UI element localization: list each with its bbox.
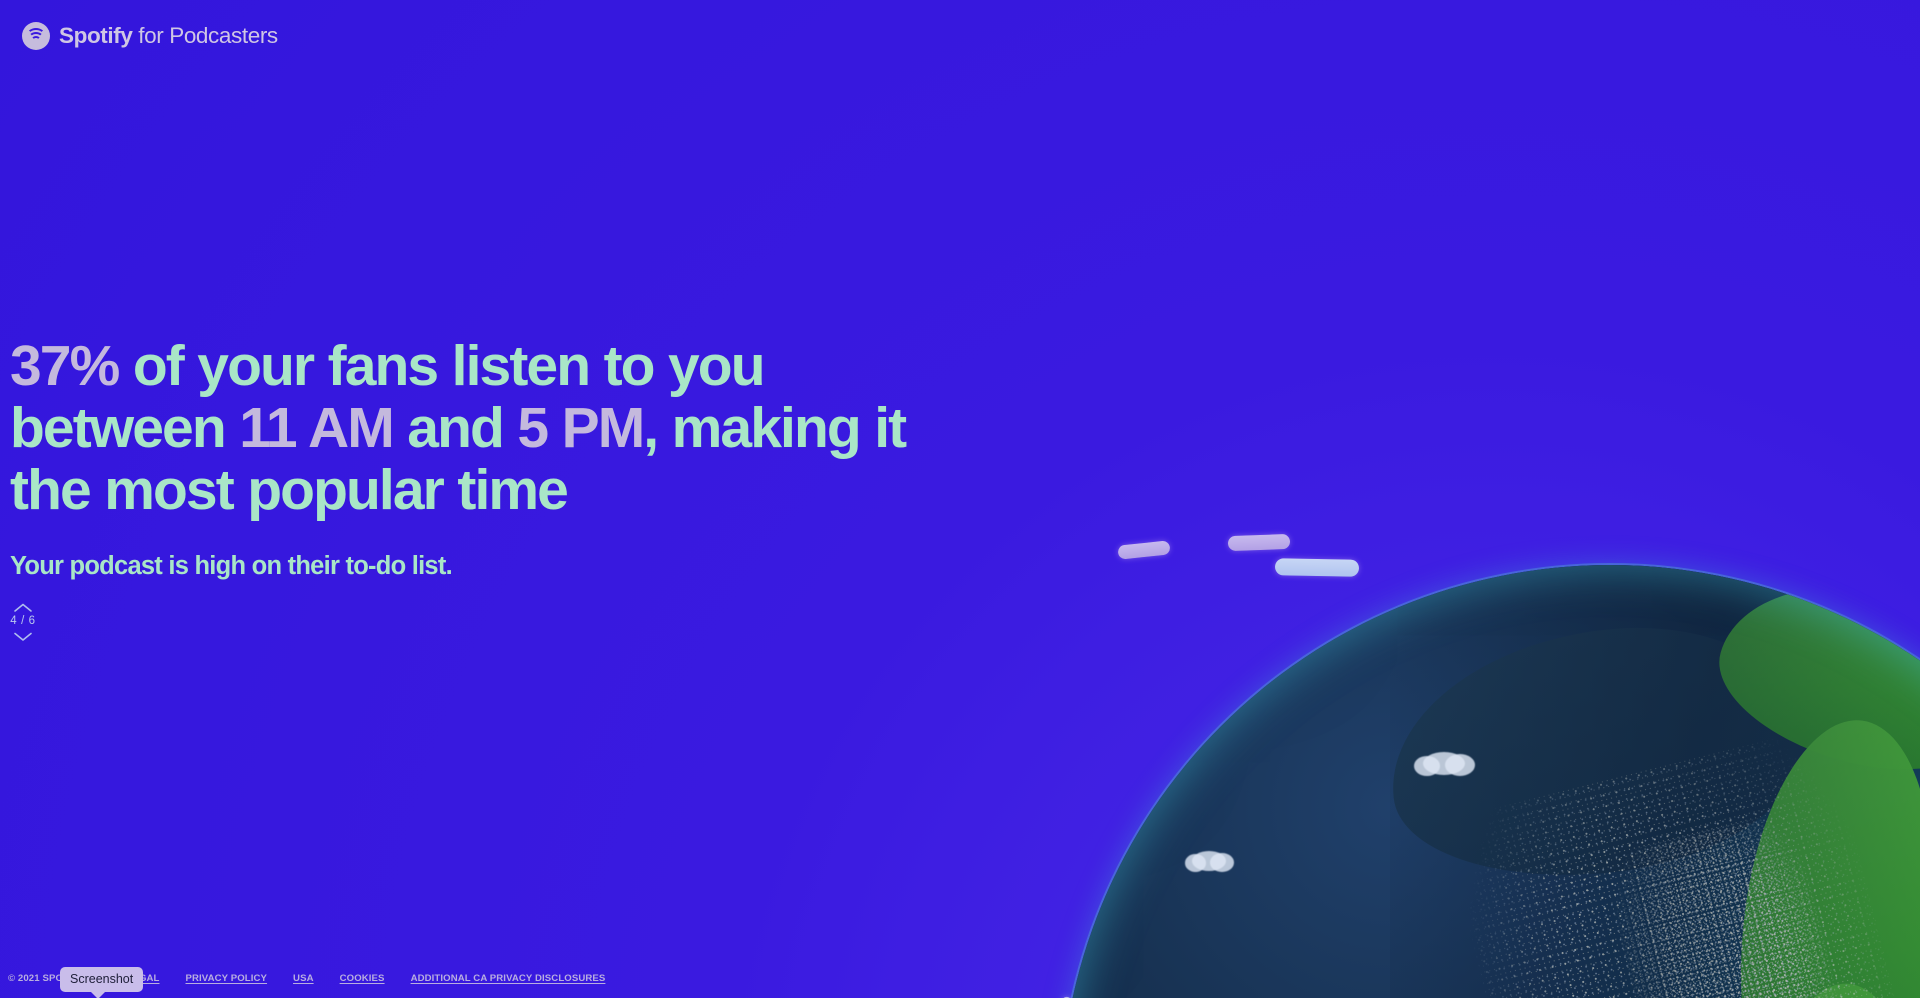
footer-link-cookies[interactable]: COOKIES [340, 973, 385, 984]
logo-wordmark: Spotify for Podcasters [59, 25, 278, 48]
globe-sphere [1060, 565, 1920, 998]
globe-landmass-night [1378, 610, 1819, 894]
globe-landmass-day [1771, 976, 1920, 998]
headline-segment-2: and [393, 396, 518, 460]
pager-count: 4 / 6 [10, 616, 35, 628]
orbit-ring-segment [1734, 964, 1751, 998]
logo-brand: Spotify [59, 23, 132, 48]
headline-time-end: 5 PM [517, 396, 643, 460]
site-header: Spotify for Podcasters [22, 22, 278, 50]
spotify-logo-icon [22, 22, 50, 50]
site-footer: © 2021 SPOTIFY AB LEGAL PRIVACY POLICY U… [8, 973, 605, 984]
screenshot-tooltip: Screenshot [60, 967, 143, 993]
globe-landmass-day [1701, 565, 1920, 799]
globe-cloud [1423, 752, 1465, 775]
globe-city-lights [1600, 809, 1861, 998]
globe-day-ocean [1544, 565, 1920, 998]
footer-link-privacy-policy[interactable]: PRIVACY POLICY [186, 973, 268, 984]
slide-pager: 4 / 6 [6, 602, 40, 642]
globe-cloud [1192, 851, 1226, 871]
headline-time-start: 11 AM [239, 396, 393, 460]
footer-link-ca-disclosures[interactable]: ADDITIONAL CA PRIVACY DISCLOSURES [411, 973, 606, 984]
headline-stat: 37% [10, 334, 118, 398]
footer-link-usa[interactable]: USA [293, 973, 314, 984]
chevron-up-icon[interactable] [13, 602, 33, 613]
hero-copy: 37% of your fans listen to you between 1… [10, 336, 950, 581]
earth-globe-illustration [1060, 565, 1920, 998]
globe-city-lights [1442, 723, 1920, 998]
globe-terminator [1390, 565, 1920, 998]
orbit-ring-segment [1648, 755, 1681, 809]
orbit-ring-segment [1117, 540, 1170, 559]
globe-landmass-day [1712, 708, 1920, 998]
page-stage: Spotify for Podcasters [0, 0, 1920, 998]
orbit-ring-segment [1608, 691, 1643, 735]
orbit-ring-segment [1275, 558, 1359, 576]
orbit-ring-segment [1228, 534, 1290, 551]
page-title: 37% of your fans listen to you between 1… [10, 336, 950, 522]
logo-suffix: for Podcasters [132, 23, 277, 48]
chevron-down-icon[interactable] [13, 631, 33, 642]
page-subtitle: Your podcast is high on their to-do list… [10, 552, 950, 581]
